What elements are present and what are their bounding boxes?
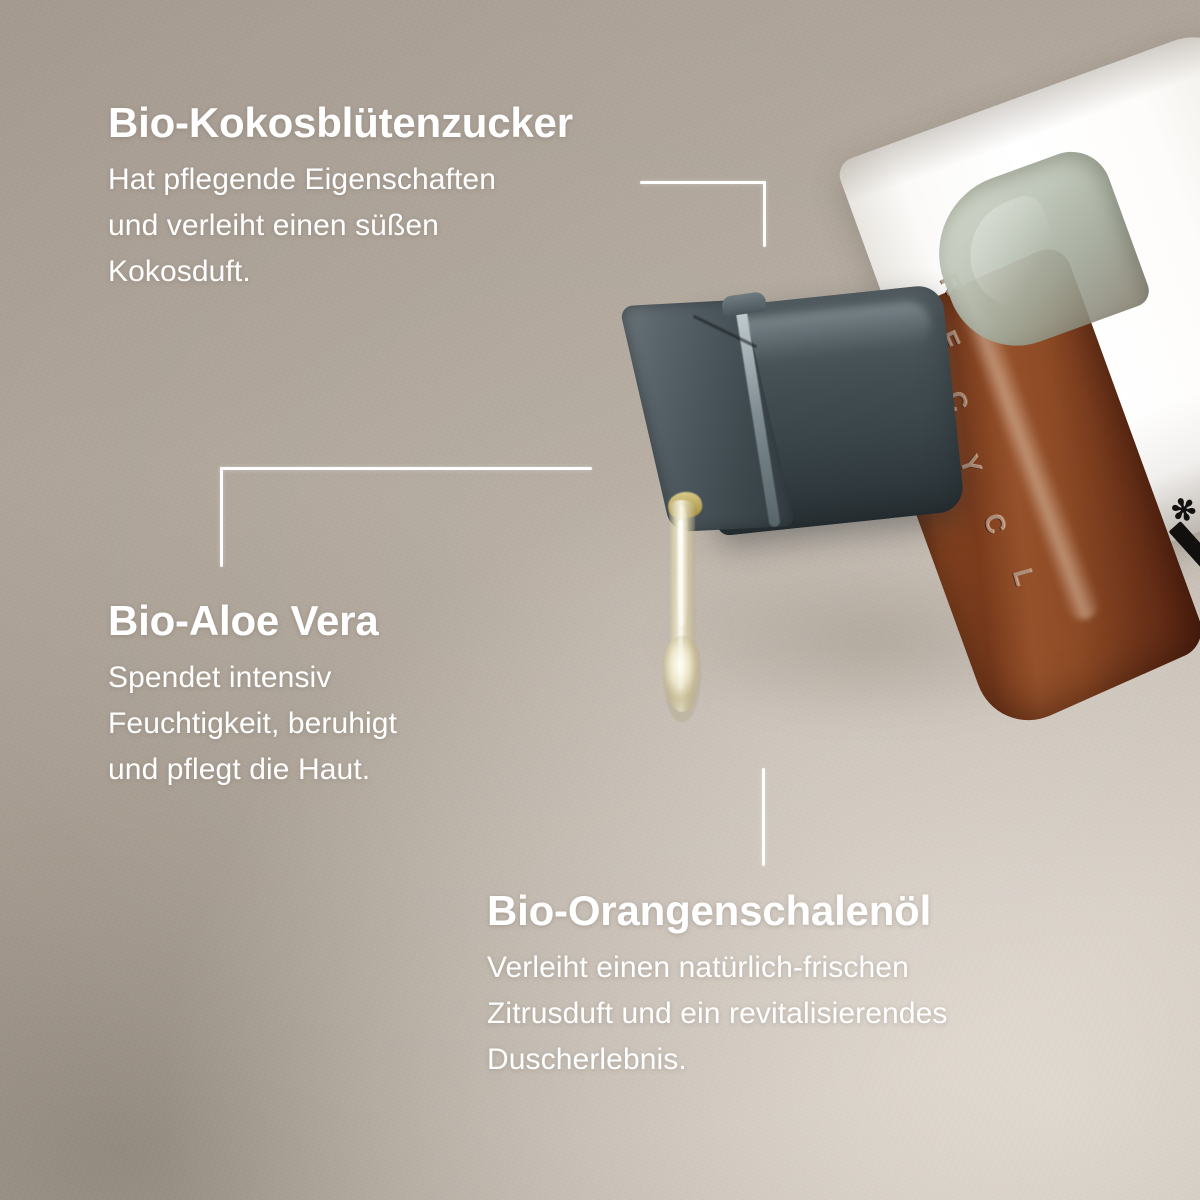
callout-2-body: Spendet intensiv Feuchtigkeit, beruhigt …: [108, 655, 588, 792]
connector-line-3-vertical: [762, 768, 765, 866]
callout-2-title: Bio-Aloe Vera: [108, 598, 588, 643]
callout-1-body: Hat pflegende Eigenschaften und verleiht…: [108, 157, 648, 294]
callout-bio-orangenschalenoel: Bio-Orangenschalenöl Verleiht einen natü…: [487, 888, 1107, 1082]
product-ingredient-infographic: R K E ✻ R E C Y C L: [0, 0, 1200, 1200]
callout-bio-aloe-vera: Bio-Aloe Vera Spendet intensiv Feuchtigk…: [108, 598, 588, 792]
callout-3-title: Bio-Orangenschalenöl: [487, 888, 1107, 933]
connector-line-1-vertical: [763, 181, 766, 247]
connector-line-1-horizontal: [640, 181, 766, 184]
emboss-char-5: L: [1006, 565, 1041, 592]
liquid-highlight: [678, 520, 683, 690]
callout-3-body: Verleiht einen natürlich-frischen Zitrus…: [487, 945, 1107, 1082]
callout-1-title: Bio-Kokosblütenzucker: [108, 100, 648, 145]
connector-line-2-vertical: [220, 467, 223, 567]
connector-line-2-horizontal: [220, 467, 592, 470]
emboss-char-4: C: [977, 510, 1013, 541]
callout-bio-kokosbluetenzucker: Bio-Kokosblütenzucker Hat pflegende Eige…: [108, 100, 648, 294]
